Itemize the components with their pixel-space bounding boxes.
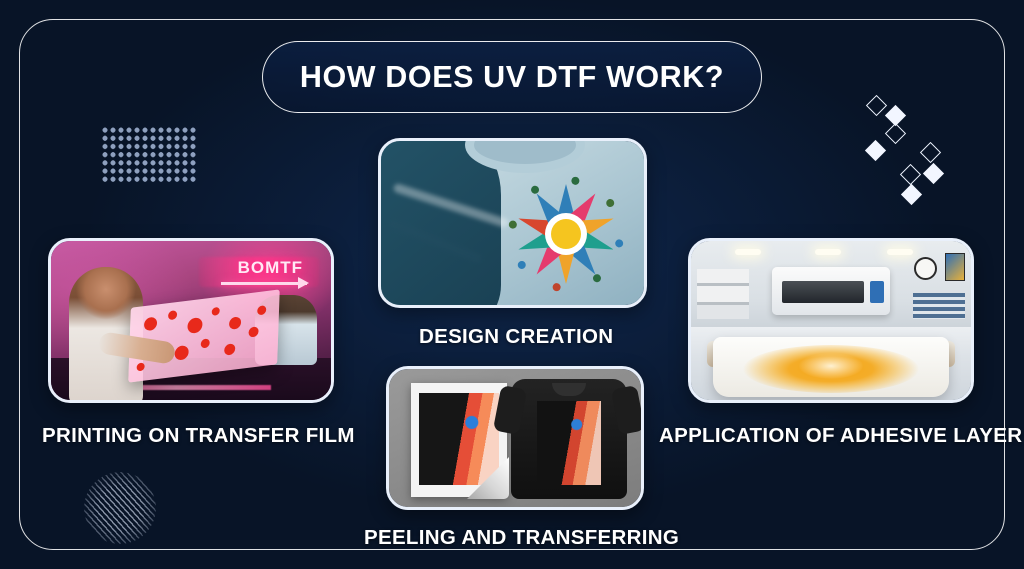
mandala-core-yellow xyxy=(551,219,581,249)
diamond-filled-icon xyxy=(923,163,944,184)
ceiling-lamp-icon xyxy=(815,249,841,255)
diamond-filled-icon xyxy=(865,140,886,161)
step-card-design-creation xyxy=(378,138,647,308)
wall-clock-icon xyxy=(914,257,937,280)
neon-arrow-icon xyxy=(221,282,307,285)
diamond-outline-icon xyxy=(920,142,941,163)
stacked-trays xyxy=(913,293,965,319)
step-card-printing-on-transfer-film: BOMTF xyxy=(48,238,334,403)
transfer-sheet xyxy=(411,383,507,497)
design-emblem xyxy=(799,353,863,379)
neon-sign-text: BOMTF xyxy=(238,258,303,278)
dot-grid-decoration xyxy=(101,126,198,184)
black-tshirt xyxy=(511,379,627,499)
dtf-printer xyxy=(772,267,890,315)
step-card-peeling-and-transferring xyxy=(386,366,644,510)
tshirt-neckline xyxy=(552,383,586,396)
diamond-outline-icon xyxy=(900,164,921,185)
wall-poster xyxy=(945,253,965,281)
infographic-poster: HOW DOES UV DTF WORK? BOMTF xyxy=(0,0,1024,569)
photo-design-creation xyxy=(381,141,644,305)
striped-circle-decoration xyxy=(84,472,156,544)
title-pill: HOW DOES UV DTF WORK? xyxy=(262,41,762,113)
transfer-sheet-artwork xyxy=(419,393,499,485)
storage-shelf xyxy=(697,269,749,319)
photo-peeling-and-transferring xyxy=(389,369,641,507)
page-title: HOW DOES UV DTF WORK? xyxy=(300,60,724,95)
ceiling-lamp-icon xyxy=(735,249,761,255)
caption-design-creation: DESIGN CREATION xyxy=(419,325,613,349)
caption-peeling-and-transferring: PEELING AND TRANSFERRING xyxy=(364,526,679,550)
step-card-application-of-adhesive-layer xyxy=(688,238,974,403)
photo-printing-on-transfer-film: BOMTF xyxy=(51,241,331,400)
diamond-filled-icon xyxy=(885,105,906,126)
caption-application-of-adhesive-layer: APPLICATION OF ADHESIVE LAYER xyxy=(659,424,1022,448)
diamond-cluster-decoration xyxy=(862,96,972,206)
ceiling-lamp-icon xyxy=(887,249,913,255)
caption-printing-on-transfer-film: PRINTING ON TRANSFER FILM xyxy=(42,424,355,448)
photo-application-of-adhesive-layer xyxy=(691,241,971,400)
mandala-design-artwork xyxy=(511,179,621,289)
tshirt-artwork xyxy=(537,401,601,485)
diamond-outline-icon xyxy=(866,95,887,116)
diamond-filled-icon xyxy=(901,184,922,205)
